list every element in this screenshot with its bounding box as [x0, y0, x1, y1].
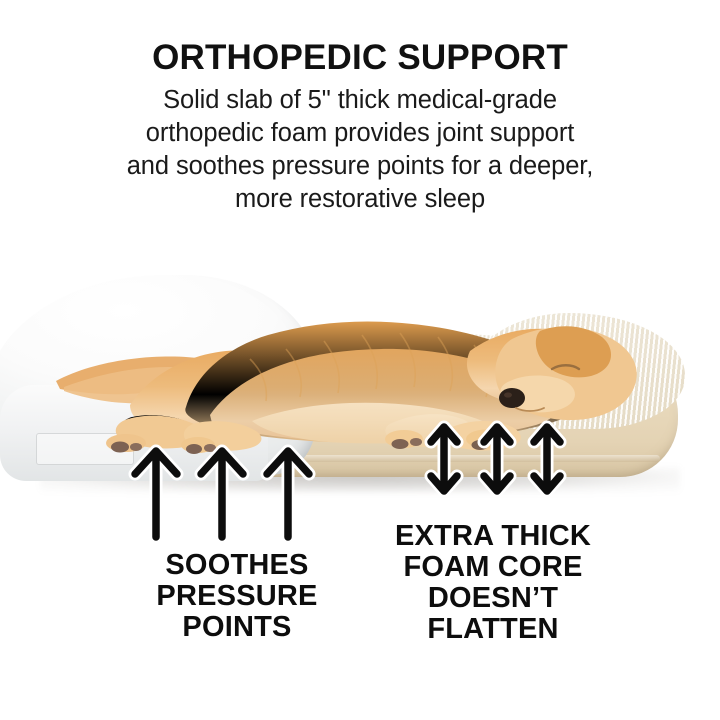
infographic-canvas: ORTHOPEDIC SUPPORT Solid slab of 5" thic… — [0, 0, 720, 720]
caption-left-line-3: POINTS — [92, 612, 382, 643]
caption-right-line-2: FOAM CORE — [356, 552, 630, 583]
product-photo — [0, 255, 720, 525]
dog-nose — [499, 388, 525, 408]
caption-right-line-1: EXTRA THICK — [356, 521, 630, 552]
description-line-2: orthopedic foam provides joint support — [0, 117, 720, 150]
dog-paw-pad — [111, 442, 129, 453]
caption-soothes-pressure-points: SOOTHES PRESSURE POINTS — [92, 550, 382, 643]
caption-left-line-2: PRESSURE — [92, 581, 382, 612]
caption-extra-thick-foam-core: EXTRA THICK FOAM CORE DOESN’T FLATTEN — [356, 521, 630, 645]
dog-illustration — [0, 255, 720, 525]
caption-left-line-1: SOOTHES — [92, 550, 382, 581]
description-paragraph: Solid slab of 5" thick medical-grade ort… — [0, 84, 720, 216]
text-block: ORTHOPEDIC SUPPORT Solid slab of 5" thic… — [0, 36, 720, 216]
description-line-1: Solid slab of 5" thick medical-grade — [0, 84, 720, 117]
description-line-4: more restorative sleep — [0, 183, 720, 216]
description-line-3: and soothes pressure points for a deeper… — [0, 150, 720, 183]
caption-right-line-3: DOESN’T — [356, 583, 630, 614]
caption-right-line-4: FLATTEN — [356, 614, 630, 645]
page-title: ORTHOPEDIC SUPPORT — [0, 36, 720, 80]
